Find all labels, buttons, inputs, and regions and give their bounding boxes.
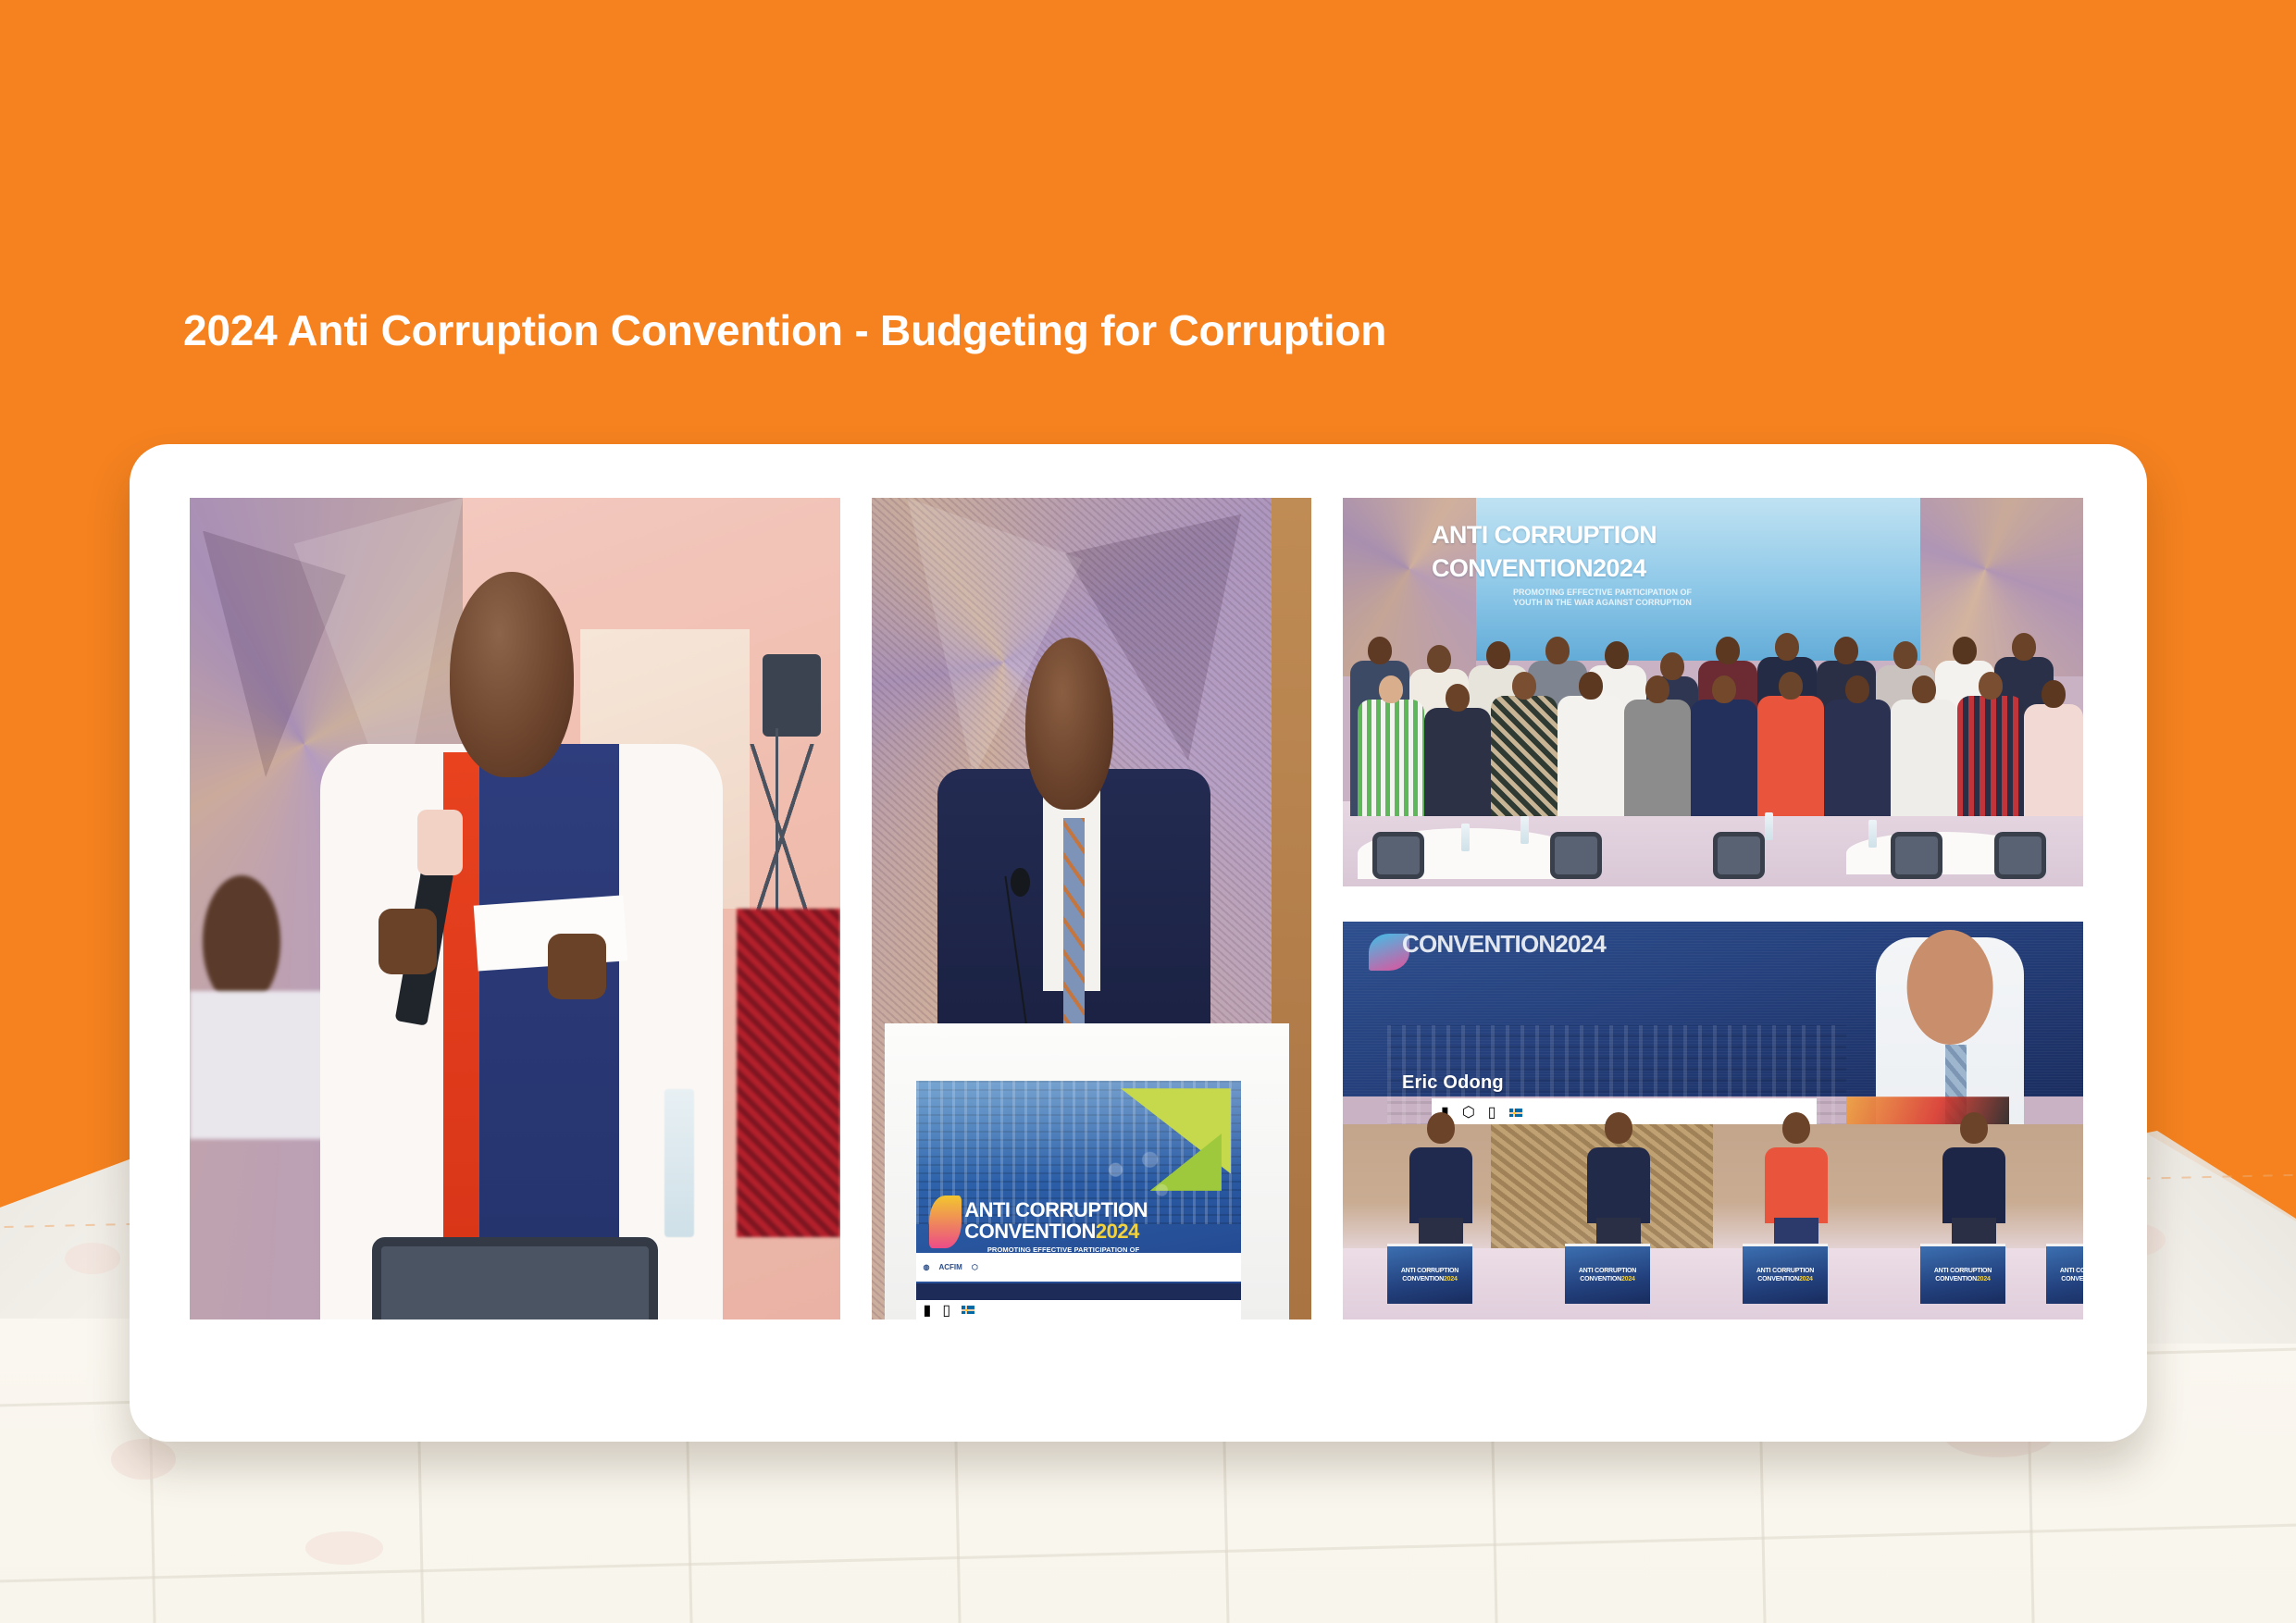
photo-speaker-microphone[interactable] [190,498,840,1319]
placard-line2-text: CONVENTION [2061,1276,2083,1282]
backdrop-wall-right [1920,498,2083,676]
background-attendee [203,875,280,1007]
delegate [1957,696,2024,816]
table-placard: ANTI CORRUPTION CONVENTION2024 [1565,1244,1650,1304]
delegate [1824,700,1891,816]
panelist [1757,1112,1835,1247]
placard-year: 2024 [1444,1276,1458,1282]
speaker-left-hand [379,909,437,974]
photo-grid: ANTI CORRUPTION CONVENTION2024 PROMOTING… [190,498,2083,1319]
partner-logo-un: ◍ [924,1263,930,1271]
placard-line1: ANTI CORRUPTION [1756,1267,1814,1275]
conference-chair [1550,832,1602,878]
speaker-tunic-blue-panel [476,744,619,1319]
speaker-tie [1063,818,1086,1032]
banner-logo-swoosh [929,1196,962,1248]
table-placard: ANTI CORRUPTION CONVENTION2024 [1743,1244,1828,1304]
donor-logo-crest: ▮ [924,1301,932,1319]
table-placard: ANTI CORRUPTION CONVENTION2024 [1387,1244,1472,1304]
placard-line2-text: CONVENTION [1935,1276,1977,1282]
placard-line2: CONVENTION2024 [1580,1275,1634,1283]
delegate [1358,700,1424,816]
delegate [1424,708,1491,817]
placard-line2: CONVENTION2024 [1757,1275,1812,1283]
screen-speaker-name: Eric Odong [1402,1070,1584,1096]
placard-line1: ANTI CORRUPTION [1401,1267,1458,1275]
delegate [1891,700,1957,816]
water-bottle [664,1089,694,1237]
placard-line2: CONVENTION2024 [1402,1275,1457,1283]
banner-partner-logos: ◍ ACFIM ⬡ [916,1253,1242,1282]
banner-title-line2-text: CONVENTION [964,1220,1096,1243]
conference-chair [1713,832,1765,878]
photo-gallery-card: ANTI CORRUPTION CONVENTION2024 PROMOTING… [130,444,2147,1442]
backdrop-title-line2: CONVENTION2024 [1432,554,1646,583]
placard-line2-text: CONVENTION [1580,1276,1621,1282]
table-placard: ANTI CORRUPTION CONVENTION2024 [2046,1244,2083,1304]
placard-line2: CONVENTION2024 [2061,1275,2083,1283]
water-bottle [1520,816,1529,844]
delegate [1491,696,1558,816]
video-camera [763,654,821,737]
backdrop-title-line1: ANTI CORRUPTION [1432,521,1657,550]
banner-year: 2024 [1096,1220,1139,1243]
donor-logo-mark: ▯ [942,1301,950,1319]
photo-panel-discussion[interactable]: CONVENTION2024 Eric Odong Economist Civi… [1343,922,2083,1319]
podium-banner: ANTI CORRUPTION CONVENTION2024 PROMOTING… [916,1081,1242,1319]
water-bottle [1868,820,1877,848]
panelist [1580,1112,1657,1247]
backdrop-tagline-line2: YOUTH IN THE WAR AGAINST CORRUPTION [1513,598,1692,609]
sweden-flag-icon [1509,1109,1522,1117]
banner-nav-strip [916,1283,1242,1300]
speaker-head [450,572,574,777]
partner-logo-acfim: ACFIM [938,1263,962,1271]
page-title: 2024 Anti Corruption Convention - Budget… [183,305,1386,355]
conference-chair [1891,832,1942,878]
delegate [1558,696,1624,816]
backdrop-title-line2-text: CONVENTION [1432,554,1593,582]
banner-donor-logos: ▮ ▯ [916,1300,1242,1319]
background-table [190,991,333,1139]
conference-chair [372,1237,658,1319]
sweden-flag-icon [962,1306,974,1314]
microphone-head [417,810,463,875]
portrait-face [1907,930,1993,1045]
screen-heading-text: CONVENTION [1402,930,1555,958]
backdrop-year: 2024 [1593,554,1646,582]
placard-line1: ANTI CORRUPTION [2060,1267,2083,1275]
speaker-head [1025,638,1113,810]
placard-line2-text: CONVENTION [1402,1276,1444,1282]
podium-microphone-head [1011,868,1030,897]
panelist [1935,1112,2013,1247]
water-bottle [1461,824,1470,851]
placard-line2: CONVENTION2024 [1935,1275,1990,1283]
placard-line1: ANTI CORRUPTION [1579,1267,1636,1275]
conference-chair [1372,832,1424,878]
water-bottle [1765,812,1773,840]
delegate [1757,696,1824,816]
tripod-legs [743,744,821,924]
placard-year: 2024 [1977,1276,1991,1282]
placard-line2-text: CONVENTION [1757,1276,1799,1282]
background-attendee-red [737,909,840,1237]
partner-logo-generic: ⬡ [972,1263,978,1271]
screen-heading-year: 2024 [1555,930,1606,958]
backdrop-tagline: PROMOTING EFFECTIVE PARTICIPATION OF YOU… [1513,588,1692,609]
delegate [2024,704,2083,817]
backdrop-tagline-line1: PROMOTING EFFECTIVE PARTICIPATION OF [1513,588,1692,599]
banner-title-line2: CONVENTION2024 [964,1220,1139,1244]
speaker-right-hand [548,934,606,999]
panelist [1402,1112,1480,1247]
photo-group-delegates[interactable]: ANTI CORRUPTION CONVENTION2024 PROMOTING… [1343,498,2083,886]
placard-year: 2024 [1621,1276,1635,1282]
table-placard: ANTI CORRUPTION CONVENTION2024 [1920,1244,2005,1304]
banner-title-line1: ANTI CORRUPTION [964,1198,1148,1222]
delegate [1624,700,1691,816]
placard-line1: ANTI CORRUPTION [1934,1267,1992,1275]
screen-heading: CONVENTION2024 [1402,930,1606,959]
delegate [1691,700,1757,816]
conference-chair [1994,832,2046,878]
placard-year: 2024 [1799,1276,1813,1282]
sponsor-logo-icon: ▯ [1488,1103,1496,1121]
photo-podium-speaker[interactable]: ANTI CORRUPTION CONVENTION2024 PROMOTING… [872,498,1311,1319]
